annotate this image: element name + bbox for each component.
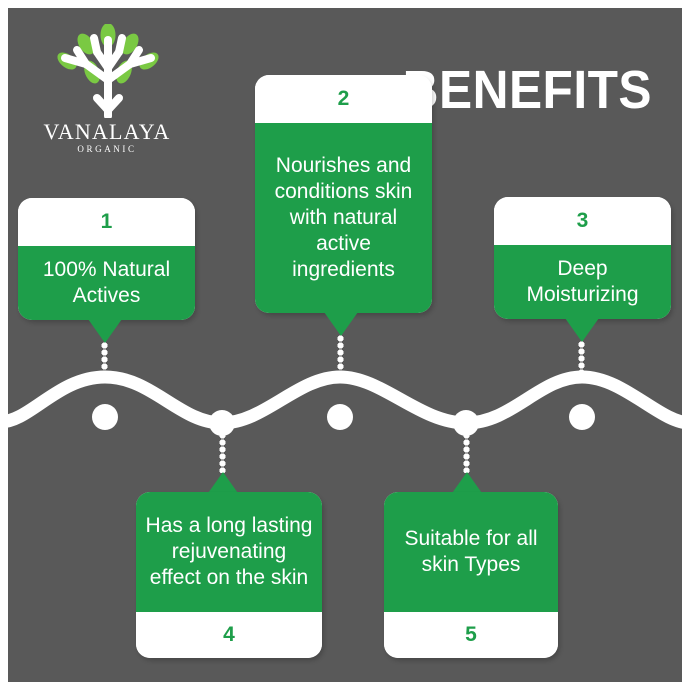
- page-title: BENEFITS: [403, 62, 652, 118]
- wave-connector: [0, 340, 690, 470]
- card-number-2: 2: [255, 75, 432, 123]
- card-pointer-3: [565, 318, 599, 342]
- card-text-4: Has a long lasting rejuvenating effect o…: [136, 492, 322, 612]
- card-text-2: Nourishes and conditions skin with natur…: [255, 123, 432, 313]
- benefit-card-5[interactable]: Suitable for all skin Types 5: [384, 492, 558, 658]
- card-number-5: 5: [384, 612, 558, 658]
- wave-node-1: [92, 404, 118, 430]
- infographic-canvas: VANALAYA ORGANIC BENEFITS 1 100% Natural…: [0, 0, 690, 700]
- card-text-5: Suitable for all skin Types: [384, 492, 558, 612]
- brand-logo: VANALAYA ORGANIC: [32, 24, 182, 154]
- card-pointer-2: [324, 312, 358, 336]
- benefit-card-2[interactable]: 2 Nourishes and conditions skin with nat…: [255, 75, 432, 313]
- connector-beads-4: [219, 432, 226, 473]
- connector-beads-5: [463, 432, 470, 473]
- card-text-1: 100% Natural Actives: [18, 246, 195, 320]
- wave-node-3: [327, 404, 353, 430]
- benefit-card-3[interactable]: 3 Deep Moisturizing: [494, 197, 671, 319]
- card-number-3: 3: [494, 197, 671, 245]
- benefit-card-1[interactable]: 1 100% Natural Actives: [18, 198, 195, 320]
- brand-name: VANALAYA: [32, 120, 182, 144]
- card-text-3: Deep Moisturizing: [494, 245, 671, 319]
- card-number-4: 4: [136, 612, 322, 658]
- wave-node-5: [569, 404, 595, 430]
- brand-tagline: ORGANIC: [32, 144, 182, 154]
- card-number-1: 1: [18, 198, 195, 246]
- tree-icon: [50, 24, 166, 118]
- benefit-card-4[interactable]: Has a long lasting rejuvenating effect o…: [136, 492, 322, 658]
